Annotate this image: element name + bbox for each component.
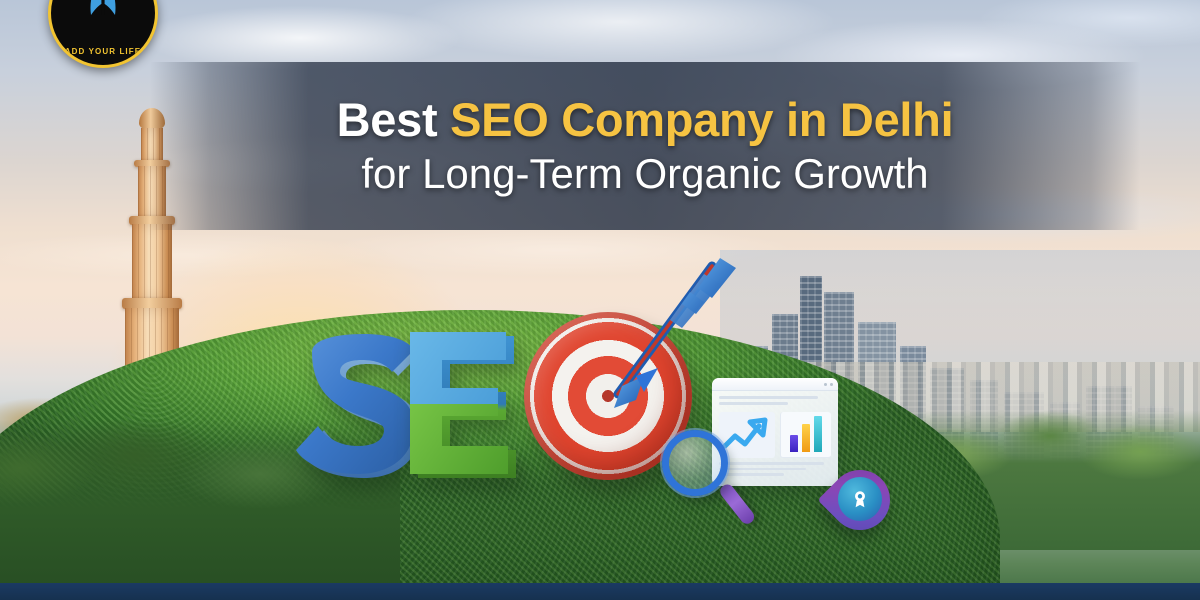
placeholder-line xyxy=(719,396,818,399)
bottom-color-band xyxy=(0,583,1200,600)
logo-wordmark: ADD YOUR LIFE xyxy=(65,47,141,56)
headline-block: Best SEO Company in Delhi for Long-Term … xyxy=(150,62,1140,230)
headline-accent: SEO Company in Delhi xyxy=(450,93,953,146)
headline-line-2: for Long-Term Organic Growth xyxy=(150,151,1140,197)
chart-bar xyxy=(814,416,822,452)
chart-bar xyxy=(790,435,798,452)
logo-mark-icon xyxy=(79,0,127,19)
letter-e-icon xyxy=(410,320,520,492)
window-dot-icon xyxy=(830,383,833,386)
bar-chart-panel xyxy=(780,412,831,458)
magnifying-glass-icon xyxy=(662,430,766,530)
location-pin-award-icon xyxy=(830,470,892,546)
window-dot-icon xyxy=(824,383,827,386)
pin-face xyxy=(838,477,882,521)
award-ribbon-icon xyxy=(849,488,871,510)
headline-prefix: Best xyxy=(337,93,450,146)
seo-hero-banner: Best SEO Company in Delhi for Long-Term … xyxy=(0,0,1200,600)
minar-segment xyxy=(132,224,172,300)
headline-line-1: Best SEO Company in Delhi xyxy=(150,95,1140,146)
letter-s-icon xyxy=(292,324,424,494)
card-titlebar xyxy=(712,378,838,391)
placeholder-line xyxy=(719,402,788,405)
magnifier-lens xyxy=(662,430,728,496)
chart-bar xyxy=(802,424,810,452)
magnifier-handle xyxy=(717,482,756,527)
card-header-lines xyxy=(712,391,838,411)
